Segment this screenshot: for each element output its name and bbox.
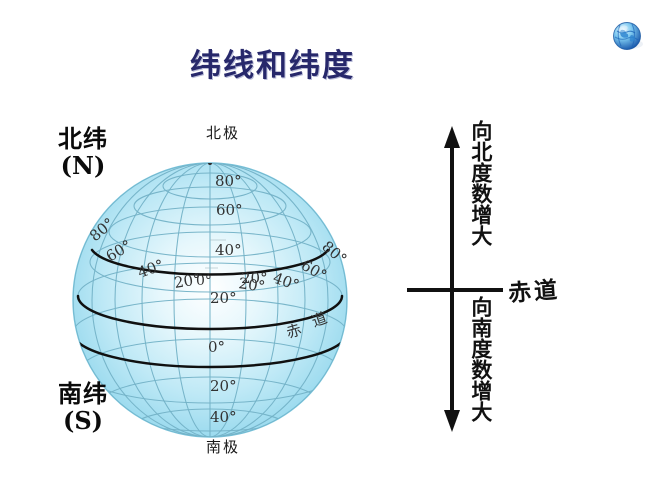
deg-label: 80°	[215, 172, 242, 190]
slide-canvas: 纬线和纬度	[0, 0, 667, 500]
deg-label: 20°	[210, 377, 237, 395]
north-latitude-label-cn: 北纬	[58, 126, 108, 153]
equator-label-right: 赤道	[507, 270, 561, 308]
south-increase-text: 向南度数增大	[470, 296, 492, 466]
deg-label: 20°	[210, 289, 237, 307]
deg-label: 40°	[215, 241, 242, 259]
south-latitude-label-en: (S)	[58, 408, 108, 435]
deg-label: 60°	[216, 201, 243, 219]
south-latitude-label-cn: 南纬	[58, 381, 108, 408]
south-latitude-label: 南纬 (S)	[58, 381, 108, 435]
deg-label: 40°	[210, 408, 237, 426]
north-latitude-label-en: (N)	[58, 153, 108, 180]
deg-label: 0°	[208, 338, 225, 356]
north-latitude-label: 北纬 (N)	[58, 126, 108, 180]
south-pole-label: 南极	[206, 436, 240, 457]
deg-label: 20°	[237, 274, 266, 296]
north-pole-label: 北极	[206, 122, 240, 143]
north-increase-text: 向北度数增大	[470, 120, 492, 290]
